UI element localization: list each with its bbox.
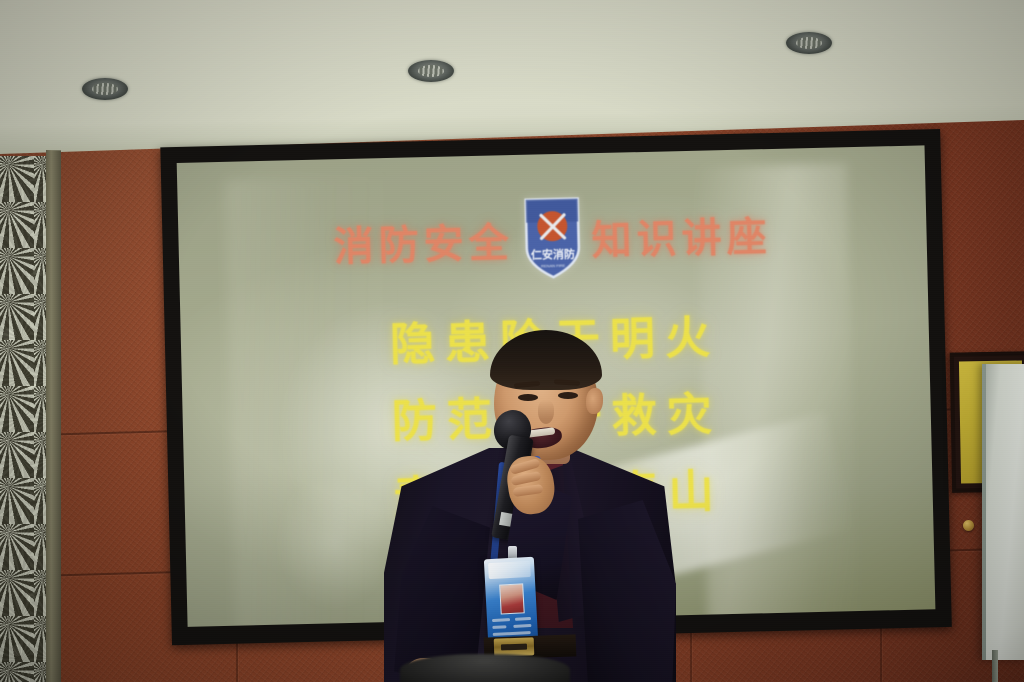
badge-text-line xyxy=(492,625,506,629)
presenter-hair xyxy=(490,330,602,390)
downlight-icon xyxy=(786,32,832,54)
foreground-object xyxy=(400,654,570,682)
perforated-screen-panel xyxy=(0,156,52,682)
whiteboard xyxy=(982,364,1024,660)
lattice-post xyxy=(46,150,61,682)
photo-scene: 消防安全 仁安消防 RENAN FIRE 知识讲座 xyxy=(0,0,1024,682)
renan-fire-shield-logo: 仁安消防 RENAN FIRE xyxy=(523,195,583,280)
whiteboard-leg xyxy=(992,650,998,682)
door-knob[interactable] xyxy=(963,520,974,531)
shield-logo-text: 仁安消防 xyxy=(531,247,575,262)
presenter-nose xyxy=(538,400,554,424)
badge-text-line xyxy=(515,617,531,621)
badge-photo xyxy=(499,583,525,614)
presenter-ear xyxy=(586,388,603,414)
badge-header xyxy=(488,561,531,579)
id-badge xyxy=(484,557,538,644)
badge-text-line xyxy=(513,624,531,628)
badge-text-line xyxy=(492,618,510,622)
lattice-texture xyxy=(0,156,52,682)
slide-title-row: 消防安全 仁安消防 RENAN FIRE 知识讲座 xyxy=(178,187,928,289)
slide-title-right: 知识讲座 xyxy=(591,204,772,266)
presenter-eye xyxy=(518,394,538,401)
slide-title-left: 消防安全 xyxy=(333,210,514,272)
downlight-icon xyxy=(82,78,128,100)
downlight-icon xyxy=(408,60,454,82)
presenter xyxy=(390,336,670,682)
shield-logo-subtext: RENAN FIRE xyxy=(541,263,566,269)
presenter-eye xyxy=(558,392,578,399)
